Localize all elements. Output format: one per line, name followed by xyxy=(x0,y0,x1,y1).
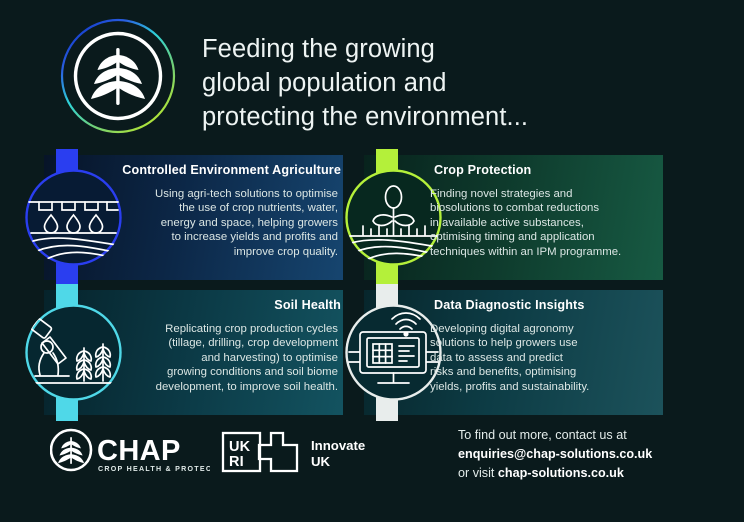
card-body: Finding novel strategies and biosolution… xyxy=(430,187,658,259)
card-title: Crop Protection xyxy=(434,163,531,177)
header: Feeding the growing global population an… xyxy=(0,0,744,150)
visit-prefix: or visit xyxy=(458,466,498,480)
card-body-line: yields, profits and sustainability. xyxy=(430,380,658,394)
card-body-line: development, to improve soil health. xyxy=(110,380,338,394)
headline-line-3: protecting the environment... xyxy=(202,100,602,134)
footer: CHAP CROP HEALTH & PROTECTION UK RI Inno… xyxy=(0,420,744,522)
contact-block: To find out more, contact us at enquirie… xyxy=(458,426,708,483)
card-body-line: Developing digital agronomy xyxy=(430,322,658,336)
card-body: Using agri-tech solutions to optimise th… xyxy=(110,187,338,259)
card-body-line: data to assess and predict xyxy=(430,351,658,365)
card-body-line: techniques within an IPM programme. xyxy=(430,245,658,259)
headline-line-1: Feeding the growing xyxy=(202,32,602,66)
card-body: Developing digital agronomy solutions to… xyxy=(430,322,658,394)
card-body-line: to increase yields and profits and xyxy=(110,230,338,244)
contact-email[interactable]: enquiries@chap-solutions.co.uk xyxy=(458,445,708,464)
card-body-line: risks and benefits, optimising xyxy=(430,365,658,379)
contact-website-line: or visit chap-solutions.co.uk xyxy=(458,464,708,483)
ukri-mark-top: UK xyxy=(229,439,251,455)
contact-intro: To find out more, contact us at xyxy=(458,426,708,445)
microscope-wheat-icon xyxy=(25,304,122,401)
card-body-line: energy and space, helping growers xyxy=(110,216,338,230)
card-body-line: Using agri-tech solutions to optimise xyxy=(110,187,338,201)
headline-line-2: global population and xyxy=(202,66,602,100)
chap-wordmark: CHAP xyxy=(97,435,181,467)
card-body-line: Finding novel strategies and xyxy=(430,187,658,201)
card-body-line: Replicating crop production cycles xyxy=(110,322,338,336)
card-body-line: solutions to help growers use xyxy=(430,336,658,350)
page-headline: Feeding the growing global population an… xyxy=(202,32,602,134)
card-body-line: improve crop quality. xyxy=(110,245,338,259)
plant-sprout-field-icon xyxy=(345,169,442,266)
irrigation-droplets-icon xyxy=(25,169,122,266)
card-body-line: biosolutions to combat reductions xyxy=(430,201,658,215)
innovate-uk-line2: UK xyxy=(311,454,331,469)
chap-tagline: CROP HEALTH & PROTECTION xyxy=(98,465,210,473)
chap-wheat-roundel-icon xyxy=(51,430,91,470)
card-title: Data Diagnostic Insights xyxy=(434,298,585,312)
ukri-logo: UK RI Innovate UK xyxy=(218,428,388,476)
contact-website[interactable]: chap-solutions.co.uk xyxy=(498,466,624,480)
card-body-line: optimising timing and application xyxy=(430,230,658,244)
monitor-wifi-data-icon xyxy=(345,304,442,401)
ukri-mark-bottom: RI xyxy=(229,454,244,470)
card-crop-protection[interactable]: Crop Protection Finding novel strategies… xyxy=(364,155,663,280)
chap-wheat-roundel-icon xyxy=(52,17,184,135)
card-title: Soil Health xyxy=(274,298,341,312)
card-body: Replicating crop production cycles (till… xyxy=(110,322,338,394)
innovate-uk-line1: Innovate xyxy=(311,438,365,453)
card-body-line: and harvesting) to optimise xyxy=(110,351,338,365)
card-soil-health[interactable]: Soil Health Replicating crop production … xyxy=(44,290,343,415)
card-title: Controlled Environment Agriculture xyxy=(122,163,341,177)
card-body-line: (tillage, drilling, crop development xyxy=(110,336,338,350)
card-body-line: growing conditions and soil biome xyxy=(110,365,338,379)
card-data-diagnostic-insights[interactable]: Data Diagnostic Insights Developing digi… xyxy=(364,290,663,415)
card-body-line: in available active substances, xyxy=(430,216,658,230)
card-body-line: the use of crop nutrients, water, xyxy=(110,201,338,215)
chap-logo: CHAP CROP HEALTH & PROTECTION xyxy=(50,428,210,476)
card-controlled-environment-agriculture[interactable]: Controlled Environment Agriculture Using… xyxy=(44,155,343,280)
capability-card-grid: Controlled Environment Agriculture Using… xyxy=(0,155,744,417)
